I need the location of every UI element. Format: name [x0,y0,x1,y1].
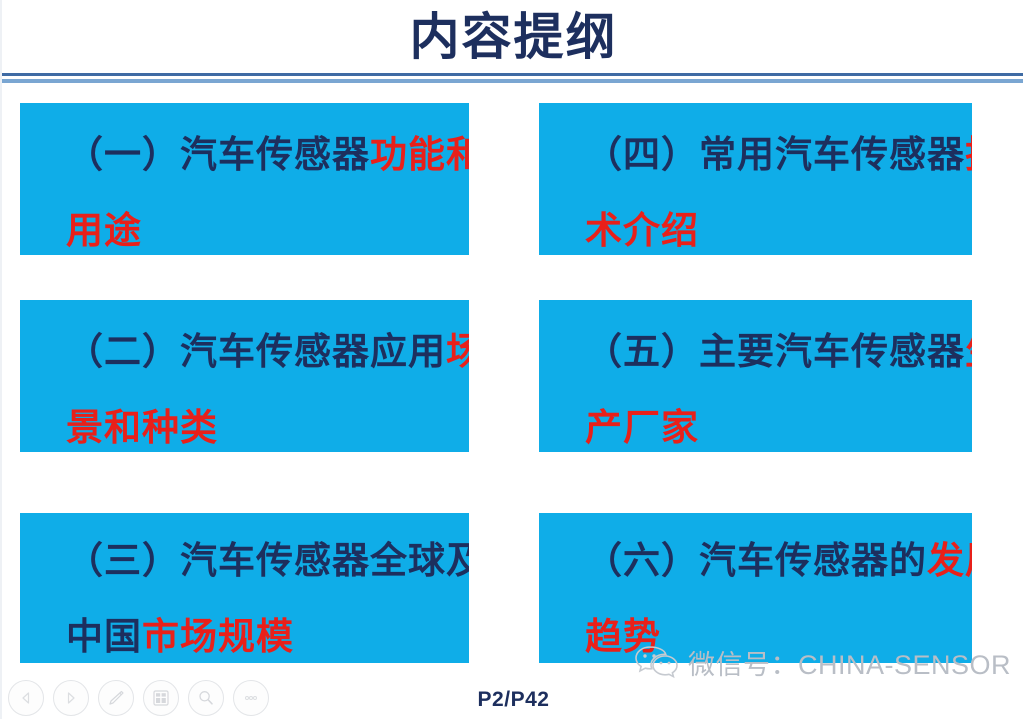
outline-item-six-text: （六）汽车传感器的发展趋势 [585,523,972,663]
outline-item-four[interactable]: （四）常用汽车传感器技术介绍 [539,103,972,255]
outline-item-three-highlight: 市场规模 [142,615,294,658]
outline-item-six-plain: （六）汽车传感器的 [585,539,927,582]
outline-item-one-text: （一）汽车传感器功能和用途 [66,117,469,255]
title-divider-dark [2,73,1023,76]
outline-item-four-plain: （四）常用汽车传感 [585,133,927,176]
outline-item-six[interactable]: （六）汽车传感器的发展趋势 [539,513,972,663]
outline-item-two-plain: （二）汽车传感器应用 [66,330,446,373]
title-divider-light [2,79,1023,83]
outline-item-three-text: （三）汽车传感器全球及中国市场规模 [66,523,469,663]
outline-item-two-text: （二）汽车传感器应用场景和种类 [66,314,469,452]
presentation-slide: 内容提纲 （一）汽车传感器功能和用途 （四）常用汽车传感器技术介绍 （二）汽车传… [0,0,1023,719]
outline-item-one-plain: （一）汽车传感器 [66,133,370,176]
outline-item-three[interactable]: （三）汽车传感器全球及中国市场规模 [20,513,469,663]
outline-item-five-plain2: 器 [927,330,965,373]
page-indicator: P2/P42 [2,688,1023,712]
outline-item-five-plain: （五）主要汽车传感 [585,330,927,373]
page-title: 内容提纲 [2,6,1023,68]
outline-item-four-text: （四）常用汽车传感器技术介绍 [585,117,972,255]
outline-item-one[interactable]: （一）汽车传感器功能和用途 [20,103,469,255]
outline-item-two[interactable]: （二）汽车传感器应用场景和种类 [20,300,469,452]
outline-item-five[interactable]: （五）主要汽车传感器生产厂家 [539,300,972,452]
outline-item-four-plain2: 器 [927,133,965,176]
outline-item-five-text: （五）主要汽车传感器生产厂家 [585,314,972,452]
